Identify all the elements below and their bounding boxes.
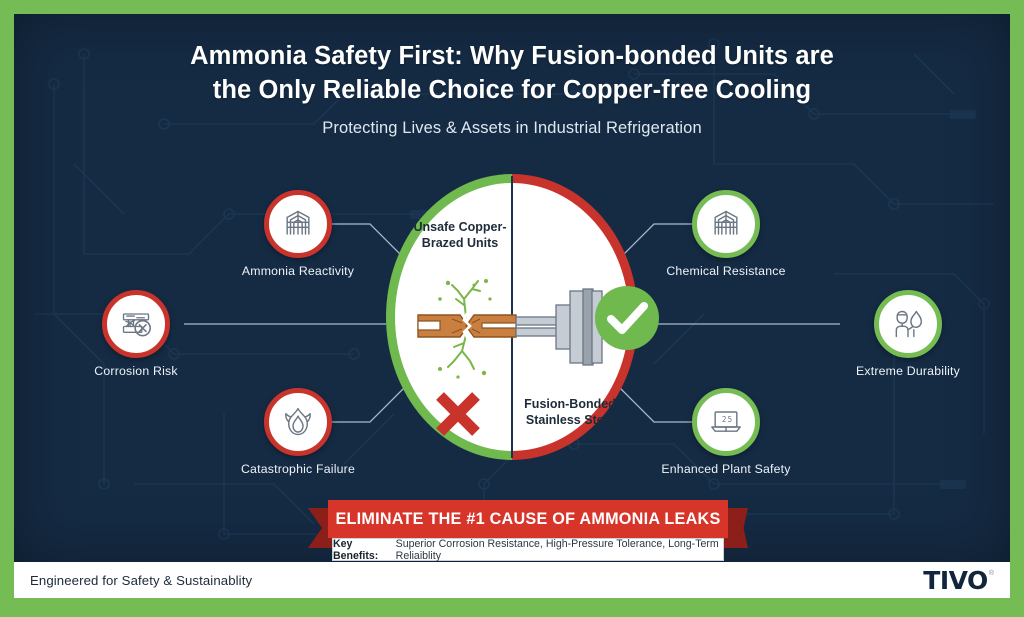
node-bubble[interactable]: 2 5 (692, 388, 760, 456)
worker-flame-icon (888, 304, 928, 344)
node-ammonia-reactivity[interactable]: Ammonia Reactivity (264, 190, 332, 258)
node-bubble[interactable] (692, 190, 760, 258)
trademark-symbol: ® (989, 570, 994, 577)
node-bubble[interactable] (102, 290, 170, 358)
node-label: Extreme Durability (808, 364, 1008, 378)
node-label: Corrosion Risk (36, 364, 236, 378)
footer-bar: Engineered for Safety & Sustainablity TI… (14, 562, 1010, 598)
node-catastrophic-failure[interactable]: Catastrophic Failure (264, 388, 332, 456)
brand-logo: TIVO ® (923, 566, 994, 595)
heat-exchanger-plate-icon (706, 204, 746, 244)
pipe-no-entry-icon (116, 304, 156, 344)
node-bubble[interactable] (264, 190, 332, 258)
brand-wordmark: TIVO (923, 566, 988, 595)
node-enhanced-plant-safety[interactable]: 2 5 Enhanced Plant Safety (692, 388, 760, 456)
ribbon-banner: ELIMINATE THE #1 CAUSE OF AMMONIA LEAKS … (308, 500, 748, 562)
node-bubble[interactable] (874, 290, 942, 358)
header: Ammonia Safety First: Why Fusion-bonded … (14, 40, 1010, 138)
key-benefits-label: Key Benefits: (333, 538, 393, 562)
navy-panel: Ammonia Safety First: Why Fusion-bonded … (14, 14, 1010, 562)
footer-tagline: Engineered for Safety & Sustainablity (30, 573, 252, 588)
node-label: Chemical Resistance (626, 264, 826, 278)
node-corrosion-risk[interactable]: Corrosion Risk (102, 290, 170, 358)
key-benefits-value: Superior Corrosion Resistance, High-Pres… (396, 538, 723, 562)
svg-text:2: 2 (722, 415, 727, 424)
node-bubble[interactable] (264, 388, 332, 456)
heat-exchanger-plate-icon (278, 204, 318, 244)
ribbon-headline: ELIMINATE THE #1 CAUSE OF AMMONIA LEAKS (335, 510, 720, 529)
unsafe-side-label: Unsafe Copper-Brazed Units (406, 219, 514, 251)
key-benefits-bar: Key Benefits: Superior Corrosion Resista… (332, 538, 724, 561)
title-line-1: Ammonia Safety First: Why Fusion-bonded … (14, 40, 1010, 74)
page-title: Ammonia Safety First: Why Fusion-bonded … (14, 40, 1010, 107)
monitor-display-icon: 2 5 (706, 402, 746, 442)
node-label: Catastrophic Failure (198, 462, 398, 476)
comparison-circle: Unsafe Copper-Brazed Units Fusion-Bonded… (386, 174, 638, 460)
check-mark-icon (591, 282, 663, 354)
svg-text:5: 5 (728, 415, 733, 424)
title-line-2: the Only Reliable Choice for Copper-free… (14, 74, 1010, 108)
ribbon-headline-bar: ELIMINATE THE #1 CAUSE OF AMMONIA LEAKS (328, 500, 728, 538)
page-subtitle: Protecting Lives & Assets in Industrial … (14, 119, 1010, 138)
node-label: Enhanced Plant Safety (626, 462, 826, 476)
node-extreme-durability[interactable]: Extreme Durability (874, 290, 942, 358)
diagram-stage: Ammonia Reactivity Corrosion Risk (14, 164, 1010, 494)
x-mark-icon (430, 386, 486, 442)
flame-droplet-icon (278, 402, 318, 442)
node-label: Ammonia Reactivity (198, 264, 398, 278)
node-chemical-resistance[interactable]: Chemical Resistance (692, 190, 760, 258)
infographic-poster: Ammonia Safety First: Why Fusion-bonded … (0, 0, 1024, 617)
safe-side-label: Fusion-Bonded Stainless Steel (514, 396, 626, 428)
